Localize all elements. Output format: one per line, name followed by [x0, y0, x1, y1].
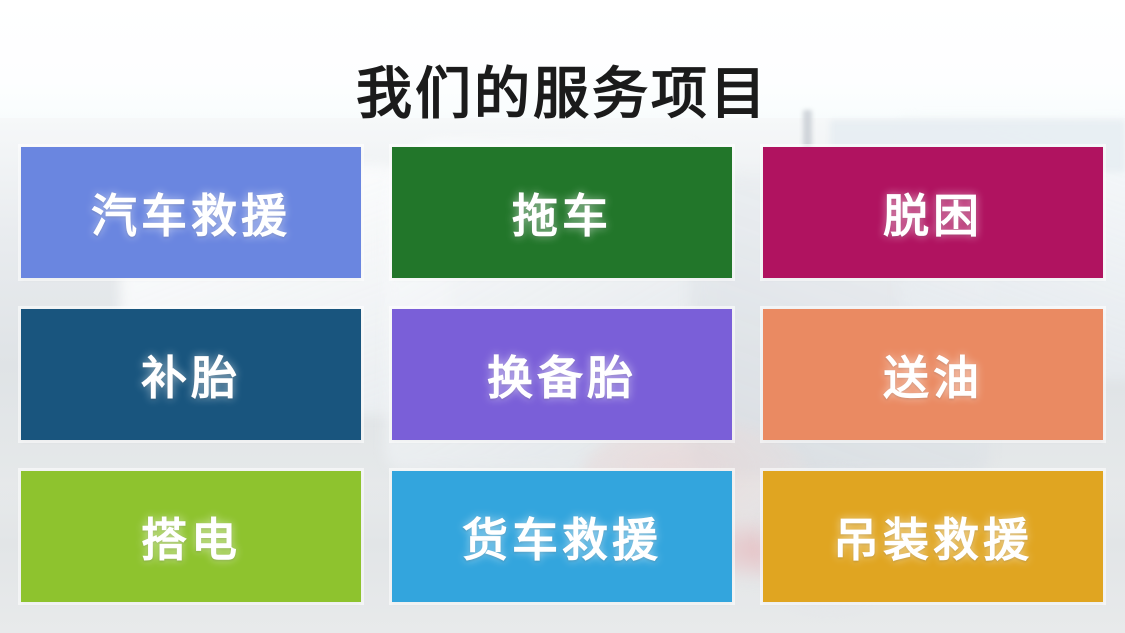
page-title: 我们的服务项目 — [0, 60, 1125, 127]
service-tile-tow-truck[interactable]: 拖车 — [392, 147, 732, 278]
service-tile-extraction[interactable]: 脱困 — [763, 147, 1103, 278]
service-tile-label: 脱困 — [883, 180, 983, 246]
service-tile-crane-rescue[interactable]: 吊装救援 — [763, 471, 1103, 602]
service-tile-label: 汽车救援 — [91, 180, 291, 246]
service-tile-truck-rescue[interactable]: 货车救援 — [392, 471, 732, 602]
service-poster: 我们的服务项目 汽车救援 拖车 脱困 补胎 换备胎 送油 搭电 货车救援 吊装救… — [0, 0, 1125, 633]
service-tile-car-rescue[interactable]: 汽车救援 — [21, 147, 361, 278]
service-tile-label: 货车救援 — [462, 504, 662, 570]
service-grid: 汽车救援 拖车 脱困 补胎 换备胎 送油 搭电 货车救援 吊装救援 — [21, 147, 1103, 601]
service-tile-label: 补胎 — [141, 342, 241, 408]
service-tile-fuel-delivery[interactable]: 送油 — [763, 309, 1103, 440]
service-tile-tire-repair[interactable]: 补胎 — [21, 309, 361, 440]
service-tile-spare-tire-change[interactable]: 换备胎 — [392, 309, 732, 440]
service-tile-label: 换备胎 — [487, 342, 637, 408]
service-tile-label: 拖车 — [512, 180, 612, 246]
service-tile-label: 吊装救援 — [833, 504, 1033, 570]
service-tile-jump-start[interactable]: 搭电 — [21, 471, 361, 602]
service-tile-label: 送油 — [883, 342, 983, 408]
service-tile-label: 搭电 — [141, 504, 241, 570]
